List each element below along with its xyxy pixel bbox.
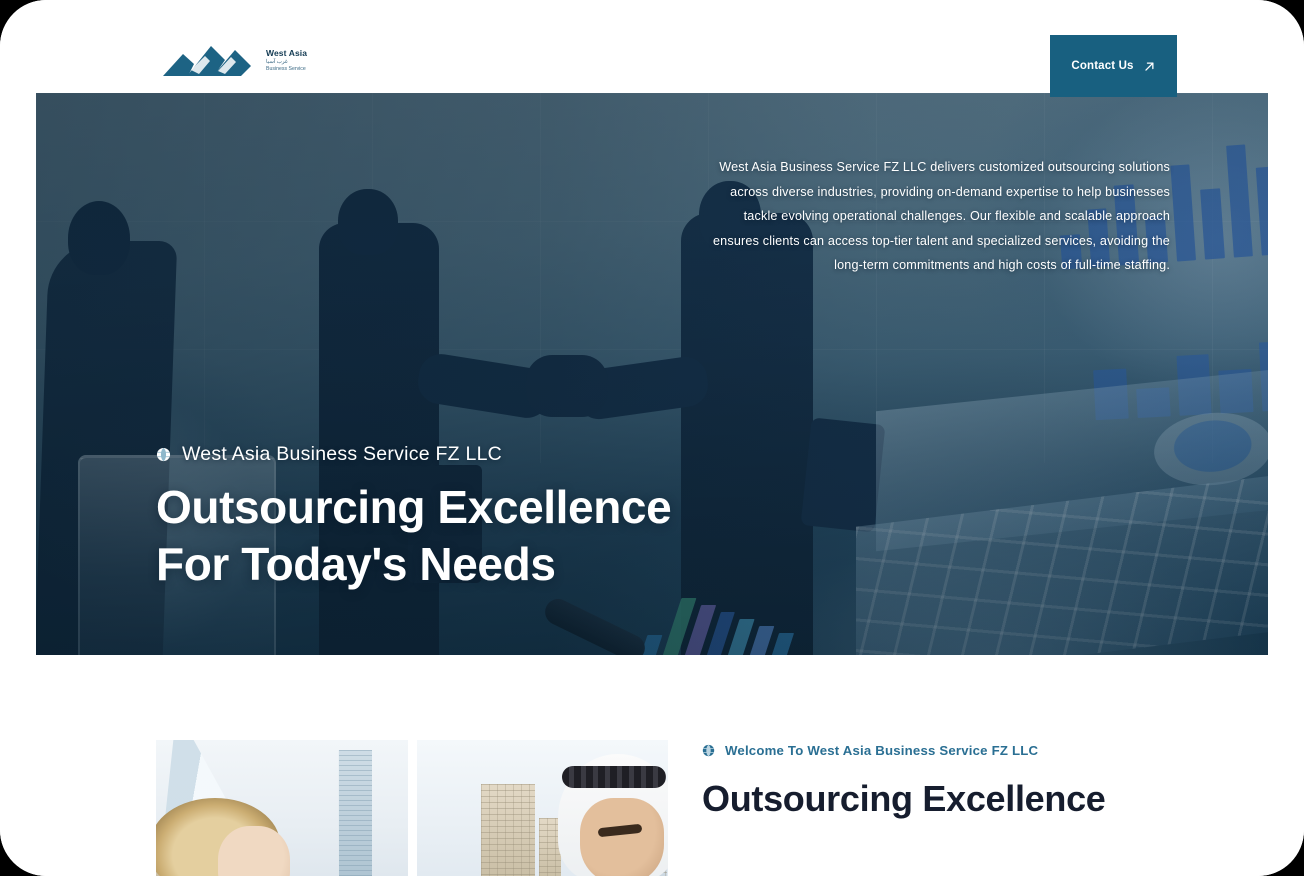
hero-paragraph: West Asia Business Service FZ LLC delive… <box>710 155 1170 278</box>
hero-title-line-1: Outsourcing Excellence <box>156 481 671 533</box>
brand-subtitle-english: Business Service <box>266 67 307 72</box>
brand-logo[interactable]: West Asia غرب آسيا Business Service <box>161 38 307 82</box>
hero-title-line-2: For Today's Needs <box>156 538 556 590</box>
businesswoman-skyline-photo <box>156 740 408 876</box>
hero-section: West Asia Business Service FZ LLC delive… <box>36 93 1268 655</box>
woman-face <box>218 826 290 876</box>
brand-subtitle-arabic: غرب آسيا <box>266 60 307 65</box>
page-viewport: West Asia غرب آسيا Business Service Cont… <box>0 0 1304 876</box>
brand-name: West Asia <box>266 49 307 58</box>
skyline-building-1 <box>481 784 535 876</box>
about-gallery <box>156 740 668 876</box>
contact-us-button[interactable]: Contact Us <box>1050 35 1177 97</box>
globe-icon <box>156 447 171 462</box>
about-title: Outsourcing Excellence <box>702 775 1222 822</box>
globe-icon <box>702 744 715 757</box>
arrow-up-right-icon <box>1143 60 1156 73</box>
brand-text-block: West Asia غرب آسيا Business Service <box>266 47 307 72</box>
mountain-logo-icon <box>161 40 257 80</box>
skyline-tower <box>338 750 372 876</box>
about-copy-block: Welcome To West Asia Business Service FZ… <box>702 743 1222 822</box>
about-section: Welcome To West Asia Business Service FZ… <box>0 655 1304 876</box>
site-header: West Asia غرب آسيا Business Service Cont… <box>0 0 1304 93</box>
man-face <box>580 798 664 876</box>
hero-title: Outsourcing Excellence For Today's Needs <box>156 479 856 593</box>
emirati-man-skyline-photo <box>417 740 669 876</box>
agal-band <box>562 766 666 788</box>
about-eyebrow: Welcome To West Asia Business Service FZ… <box>702 743 1222 758</box>
hero-copy-block: West Asia Business Service FZ LLC Outsou… <box>156 443 856 593</box>
hero-eyebrow-text: West Asia Business Service FZ LLC <box>182 443 502 466</box>
about-title-line-1: Outsourcing Excellence <box>702 778 1106 819</box>
hero-eyebrow: West Asia Business Service FZ LLC <box>156 443 856 466</box>
about-eyebrow-text: Welcome To West Asia Business Service FZ… <box>725 743 1038 758</box>
contact-us-label: Contact Us <box>1071 60 1133 72</box>
